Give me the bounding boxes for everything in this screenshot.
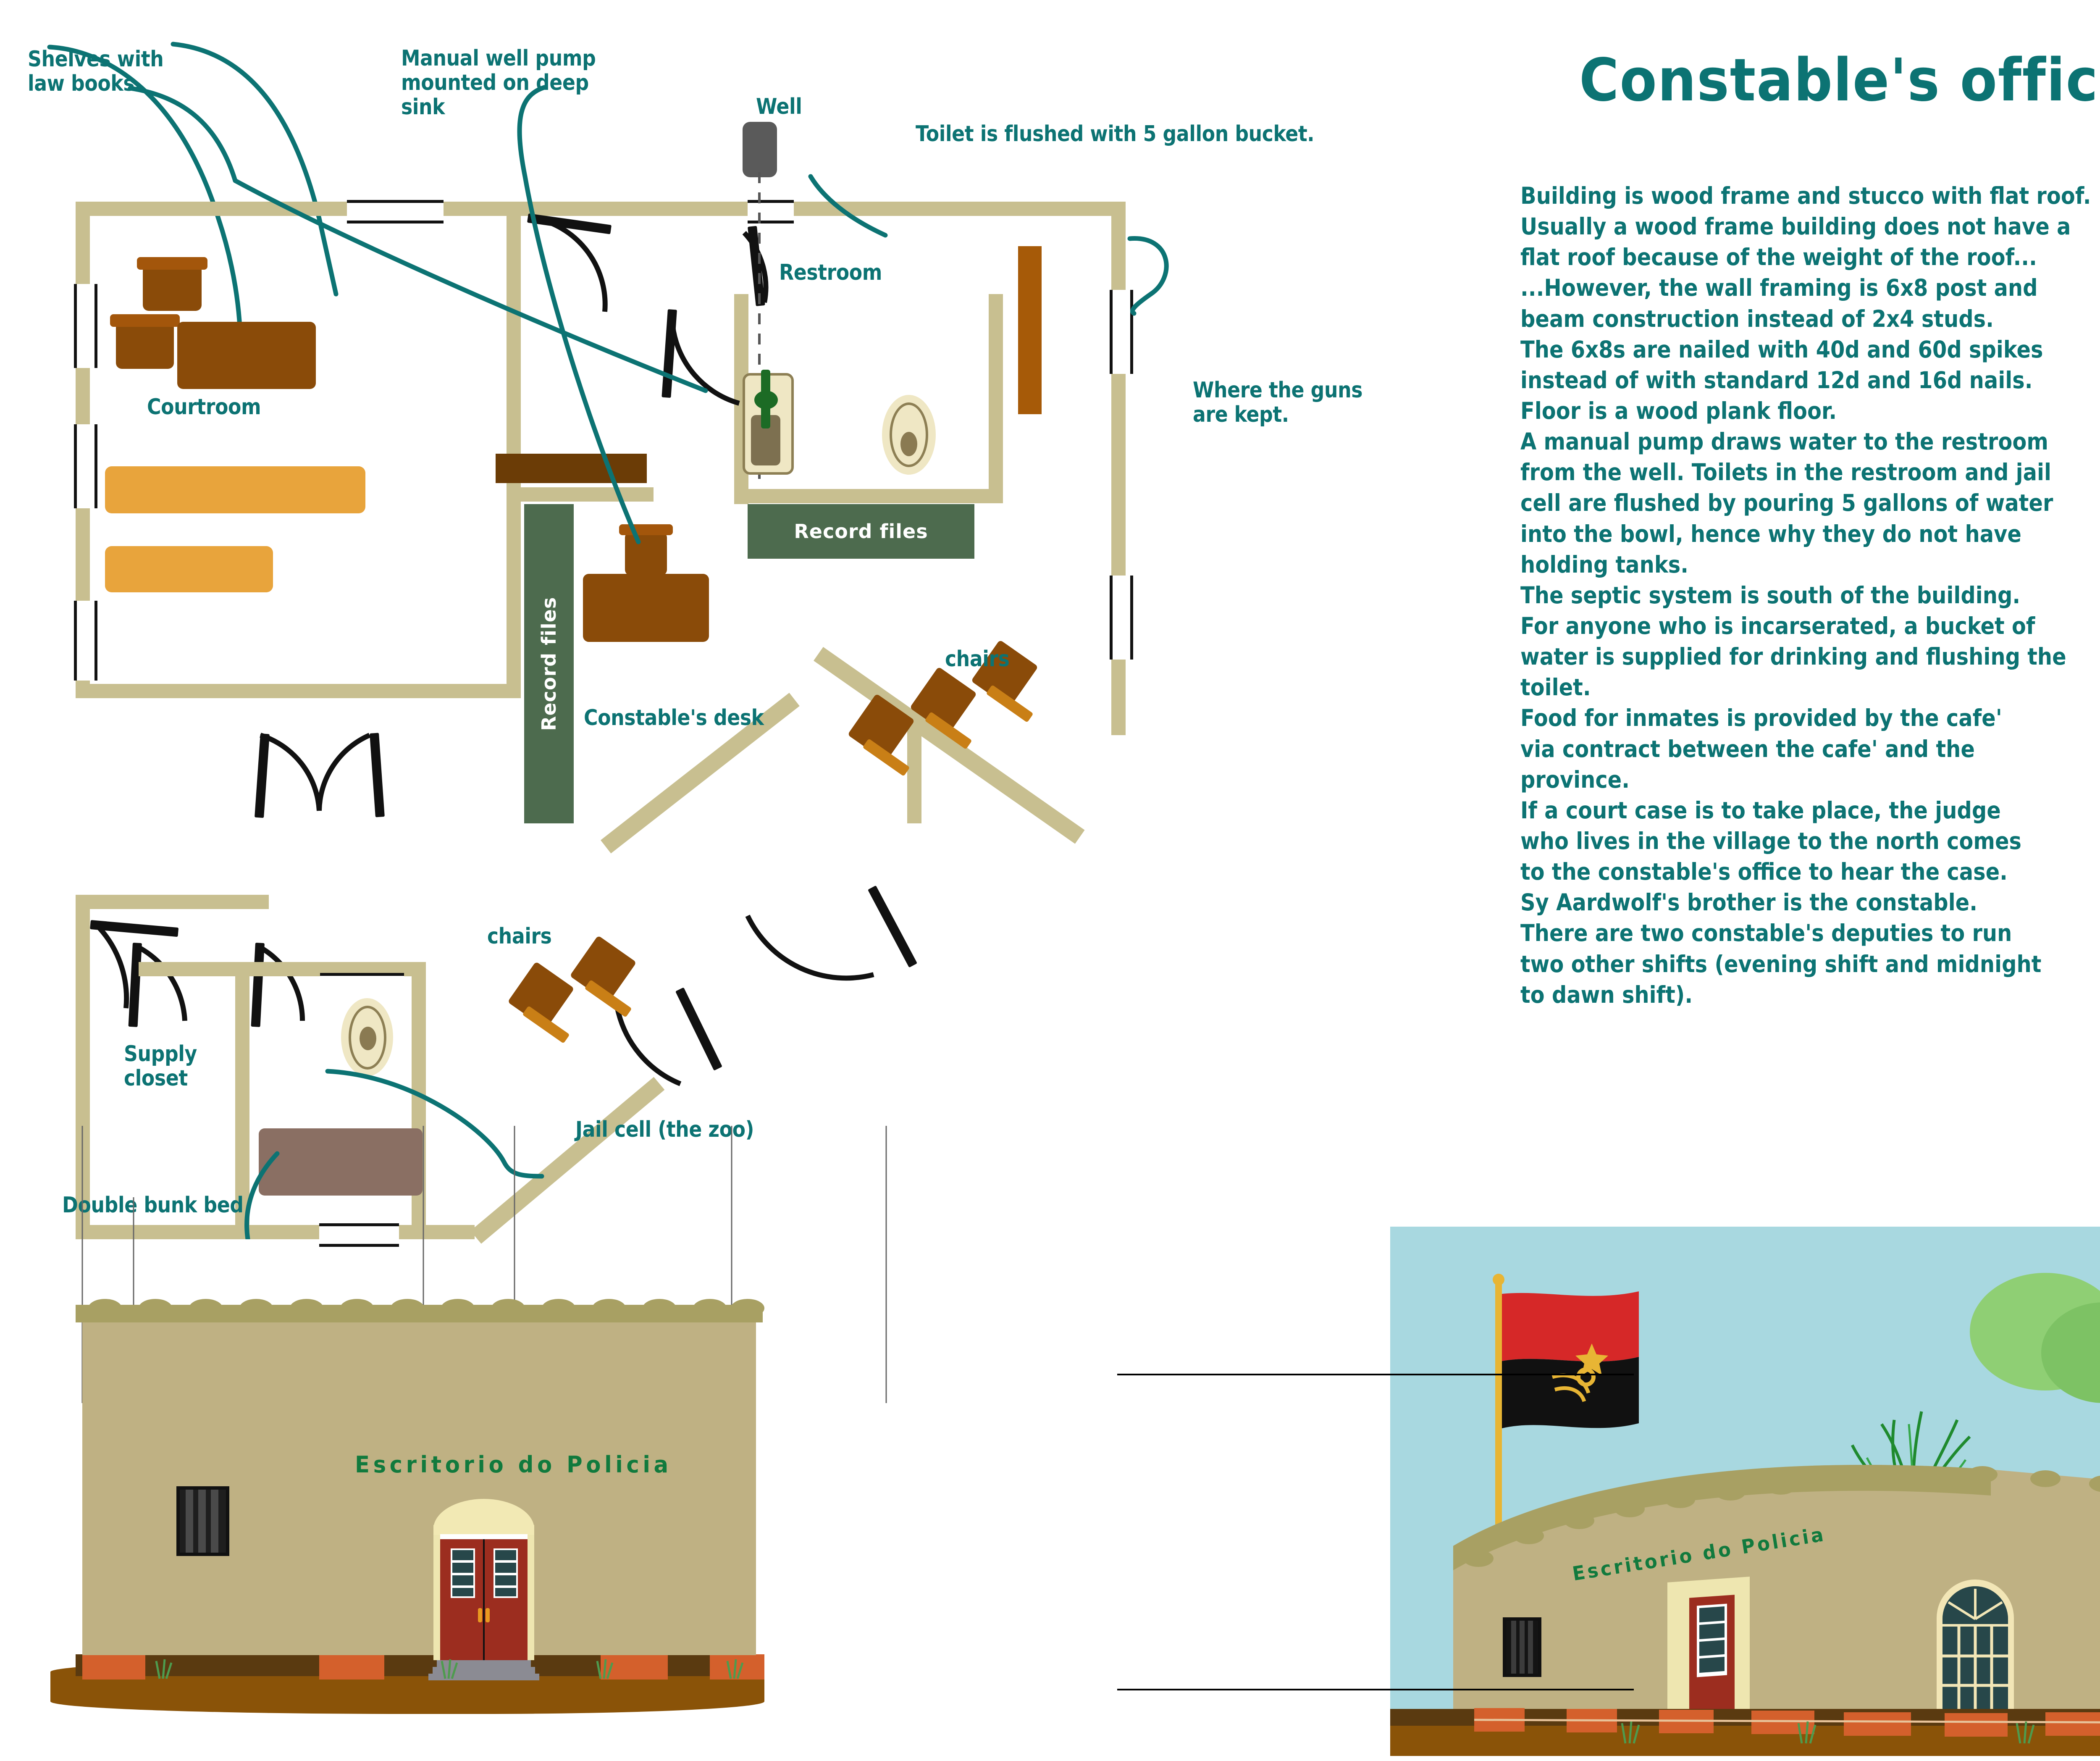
description-line: via contract between the cafe' and the: [1520, 734, 2100, 765]
building-sign: Escritorio do Policia: [355, 1451, 672, 1478]
door-pane: [452, 1575, 473, 1585]
description-line: instead of with standard 12d and 16d nai…: [1520, 365, 2100, 396]
building-perspective-painting: Escritorio do Policia: [1390, 1227, 2100, 1756]
building-elevation: Escritorio do Policia: [0, 1302, 1428, 1761]
door-center-mullion: [483, 1539, 485, 1660]
description-line: to dawn shift).: [1520, 980, 2100, 1010]
description-line: Usually a wood frame building does not h…: [1520, 211, 2100, 242]
annotation-constables-desk: Constable's desk: [584, 706, 764, 730]
description-line: The 6x8s are nailed with 40d and 60d spi…: [1520, 334, 2100, 365]
annotation-manual-pump: Manual well pump mounted on deep sink: [401, 46, 596, 120]
annotation-chairs-upper: chairs: [945, 647, 1009, 671]
door-pane: [495, 1575, 516, 1585]
painting-jail-window: [1503, 1617, 1541, 1677]
connector-line-top: [1117, 1374, 1634, 1375]
annotation-supply-closet: Supply closet: [124, 1042, 197, 1091]
door-pane: [452, 1550, 473, 1560]
description-line: Floor is a wood plank floor.: [1520, 396, 2100, 426]
annotation-chairs-lower: chairs: [487, 924, 551, 949]
grass-tufts: [50, 1649, 773, 1687]
description-line: For anyone who is incarserated, a bucket…: [1520, 611, 2100, 641]
painting-door-pane: [1699, 1657, 1725, 1673]
window-bar: [198, 1490, 206, 1553]
window-bar: [1511, 1621, 1516, 1674]
annotation-guns: Where the guns are kept.: [1193, 378, 1362, 427]
leader-lines-lower: [0, 0, 1428, 1239]
description-line: from the well. Toilets in the restroom a…: [1520, 457, 2100, 488]
description-line: flat roof because of the weight of the r…: [1520, 242, 2100, 273]
description-line: A manual pump draws water to the restroo…: [1520, 426, 2100, 457]
parapet-bumps: [76, 1296, 764, 1314]
description-line: Building is wood frame and stucco with f…: [1520, 181, 2100, 211]
painting-door-pane: [1699, 1606, 1725, 1622]
description-line: If a court case is to take place, the ju…: [1520, 795, 2100, 826]
door-pane: [495, 1563, 516, 1573]
annotation-toilet-flush: Toilet is flushed with 5 gallon bucket.: [916, 122, 1314, 146]
window-bar: [211, 1490, 218, 1553]
door-pane: [452, 1588, 473, 1596]
description-line: holding tanks.: [1520, 549, 2100, 580]
description-line: Sy Aardwolf's brother is the constable.: [1520, 887, 2100, 918]
description-line: beam construction instead of 2x4 studs.: [1520, 304, 2100, 334]
annotation-well: Well: [756, 95, 802, 119]
window-bar: [1528, 1621, 1533, 1674]
jail-window: [176, 1486, 229, 1556]
description-line: into the bowl, hence why they do not hav…: [1520, 519, 2100, 549]
description-line: province.: [1520, 765, 2100, 795]
description-line: Food for inmates is provided by the cafe…: [1520, 703, 2100, 733]
description-line: to the constable's office to hear the ca…: [1520, 857, 2100, 887]
description-block: Building is wood frame and stucco with f…: [1520, 181, 2100, 1010]
description-line: who lives in the village to the north co…: [1520, 826, 2100, 857]
window-bar: [1520, 1621, 1525, 1674]
painting-door-pane: [1699, 1640, 1725, 1656]
annotation-restroom: Restroom: [779, 260, 882, 285]
description-line: ...However, the wall framing is 6x8 post…: [1520, 273, 2100, 303]
description-line: There are two constable's deputies to ru…: [1520, 918, 2100, 949]
annotation-courtroom: Courtroom: [147, 395, 261, 419]
door-pane: [495, 1588, 516, 1596]
painting-grass-tufts: [1390, 1701, 2100, 1752]
door-pane: [495, 1550, 516, 1560]
door-handle[interactable]: [486, 1608, 490, 1622]
description-line: water is supplied for drinking and flush…: [1520, 641, 2100, 672]
connector-line-bottom: [1117, 1689, 1634, 1690]
description-line: The septic system is south of the buildi…: [1520, 580, 2100, 611]
floor-plan: Record files Record files: [0, 0, 1428, 1239]
description-line: cell are flushed by pouring 5 gallons of…: [1520, 488, 2100, 518]
door-pane: [452, 1563, 473, 1573]
description-line: two other shifts (evening shift and midn…: [1520, 949, 2100, 980]
page-title: Constable's office: [1579, 46, 2100, 115]
description-line: toilet.: [1520, 672, 2100, 703]
window-bar: [186, 1490, 193, 1553]
annotation-shelves: Shelves with law books.: [28, 47, 163, 96]
painting-door-pane: [1699, 1623, 1725, 1639]
painting-arched-window: [1934, 1572, 2016, 1723]
door-handle[interactable]: [478, 1608, 482, 1622]
